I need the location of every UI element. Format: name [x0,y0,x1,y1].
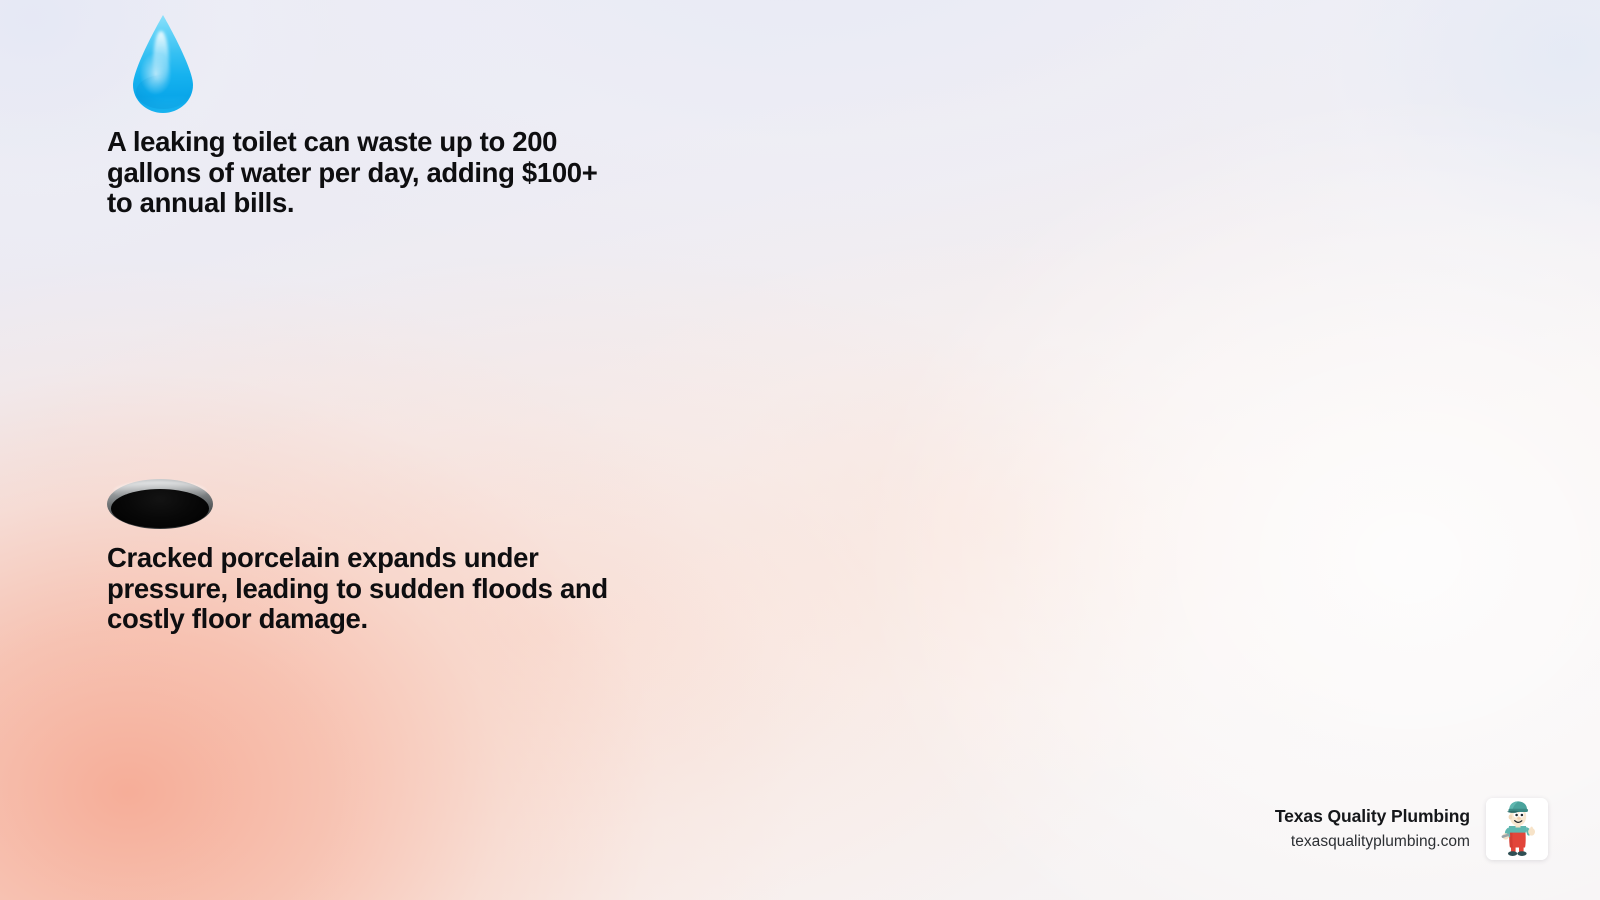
brand-text-block: Texas Quality Plumbing texasqualityplumb… [1275,806,1470,851]
brand-url: texasqualityplumbing.com [1275,833,1470,852]
plumber-mascot-logo-icon [1486,798,1548,860]
fact-icon-slot [107,15,687,113]
fact-text: A leaking toilet can waste up to 200 gal… [107,127,687,219]
fact-card-leaking-toilet: A leaking toilet can waste up to 200 gal… [0,0,798,420]
hole-icon [107,479,213,529]
fact-card-low-flow-toilets: Low-flow toilets save 13,000 gallons per… [798,420,1600,840]
fact-grid: A leaking toilet can waste up to 200 gal… [0,0,1600,900]
brand-name: Texas Quality Plumbing [1275,806,1470,828]
water-droplet-icon [133,15,193,113]
fact-card-phantom-flushes: Running toilets cause 'phantom flushes' … [798,0,1600,420]
fact-card-cracked-porcelain: Cracked porcelain expands under pressure… [0,420,798,840]
fact-text: Cracked porcelain expands under pressure… [107,543,687,635]
brand-footer: Texas Quality Plumbing texasqualityplumb… [1275,798,1548,860]
fact-icon-slot [107,479,687,529]
